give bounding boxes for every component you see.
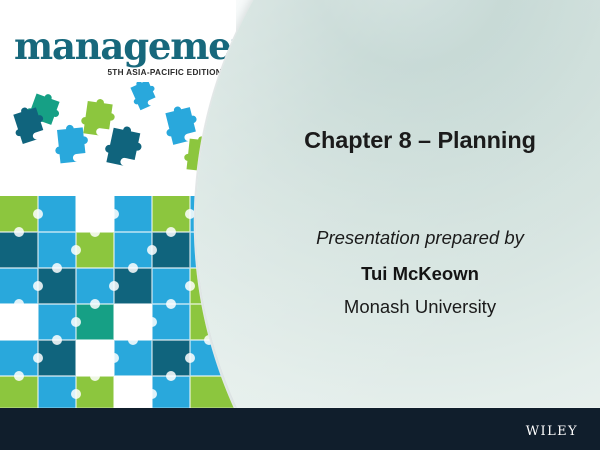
- presentation-byline: Presentation prepared by: [252, 226, 588, 251]
- book-title-wordmark: management: [14, 28, 224, 65]
- wiley-logo: Wiley: [526, 418, 578, 440]
- slide-footer: Wiley: [0, 408, 600, 450]
- slide-title: Chapter 8 – Planning: [252, 126, 588, 154]
- cover-artwork: management 5TH ASIA-PACIFIC EDITION: [0, 0, 236, 408]
- presentation-slide: management 5TH ASIA-PACIFIC EDITION Chap…: [0, 0, 600, 450]
- assembled-puzzle-grid-icon: [0, 196, 236, 408]
- author-affiliation: Monash University: [252, 295, 588, 319]
- book-edition-label: 5TH ASIA-PACIFIC EDITION: [14, 68, 224, 77]
- presentation-author: Tui McKeown: [252, 262, 588, 286]
- book-cover-panel: management 5TH ASIA-PACIFIC EDITION: [0, 0, 236, 408]
- slide-text-block: Chapter 8 – Planning Presentation prepar…: [252, 126, 588, 319]
- scattered-puzzle-pieces-icon: [0, 82, 236, 212]
- book-masthead: management 5TH ASIA-PACIFIC EDITION: [14, 28, 224, 77]
